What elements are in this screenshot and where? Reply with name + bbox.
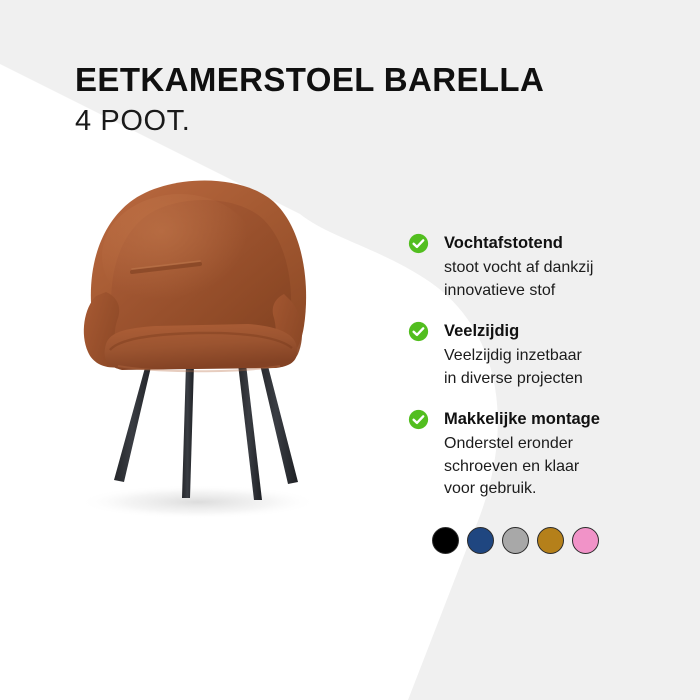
feature-list: Vochtafstotend stoot vocht af dankzij in… [408,232,658,501]
dining-chair-illustration [48,168,368,528]
feature-body-line: in diverse projecten [444,368,658,390]
feature-item: Makkelijke montage Onderstel eronder sch… [408,408,658,500]
feature-body: stoot vocht af dankzij innovatieve stof [444,257,658,302]
feature-item: Vochtafstotend stoot vocht af dankzij in… [408,232,658,302]
feature-item: Veelzijdig Veelzijdig inzetbaar in diver… [408,320,658,390]
swatch-grey[interactable] [502,527,529,554]
feature-body: Onderstel eronder schroeven en klaar voo… [444,433,658,500]
feature-body-line: Onderstel eronder [444,433,658,455]
feature-body-line: stoot vocht af dankzij [444,257,658,279]
feature-body-line: Veelzijdig inzetbaar [444,345,658,367]
swatch-blue[interactable] [467,527,494,554]
page-title: EETKAMERSTOEL BARELLA 4 POOT. [75,62,635,137]
feature-body-line: innovatieve stof [444,280,658,302]
feature-body-line: schroeven en klaar [444,456,658,478]
swatch-pink[interactable] [572,527,599,554]
product-image [48,168,368,528]
product-banner: EETKAMERSTOEL BARELLA 4 POOT. [0,0,700,700]
feature-title: Makkelijke montage [444,408,658,430]
feature-body-line: voor gebruik. [444,478,658,500]
swatch-ochre[interactable] [537,527,564,554]
check-circle-icon [408,321,429,342]
title-main: EETKAMERSTOEL BARELLA [75,62,635,99]
check-circle-icon [408,233,429,254]
feature-body: Veelzijdig inzetbaar in diverse projecte… [444,345,658,390]
chair-legs [114,354,298,500]
swatch-black[interactable] [432,527,459,554]
feature-title: Veelzijdig [444,320,658,342]
color-swatch-row [432,527,599,554]
feature-title: Vochtafstotend [444,232,658,254]
check-circle-icon [408,409,429,430]
title-sub: 4 POOT. [75,105,635,137]
